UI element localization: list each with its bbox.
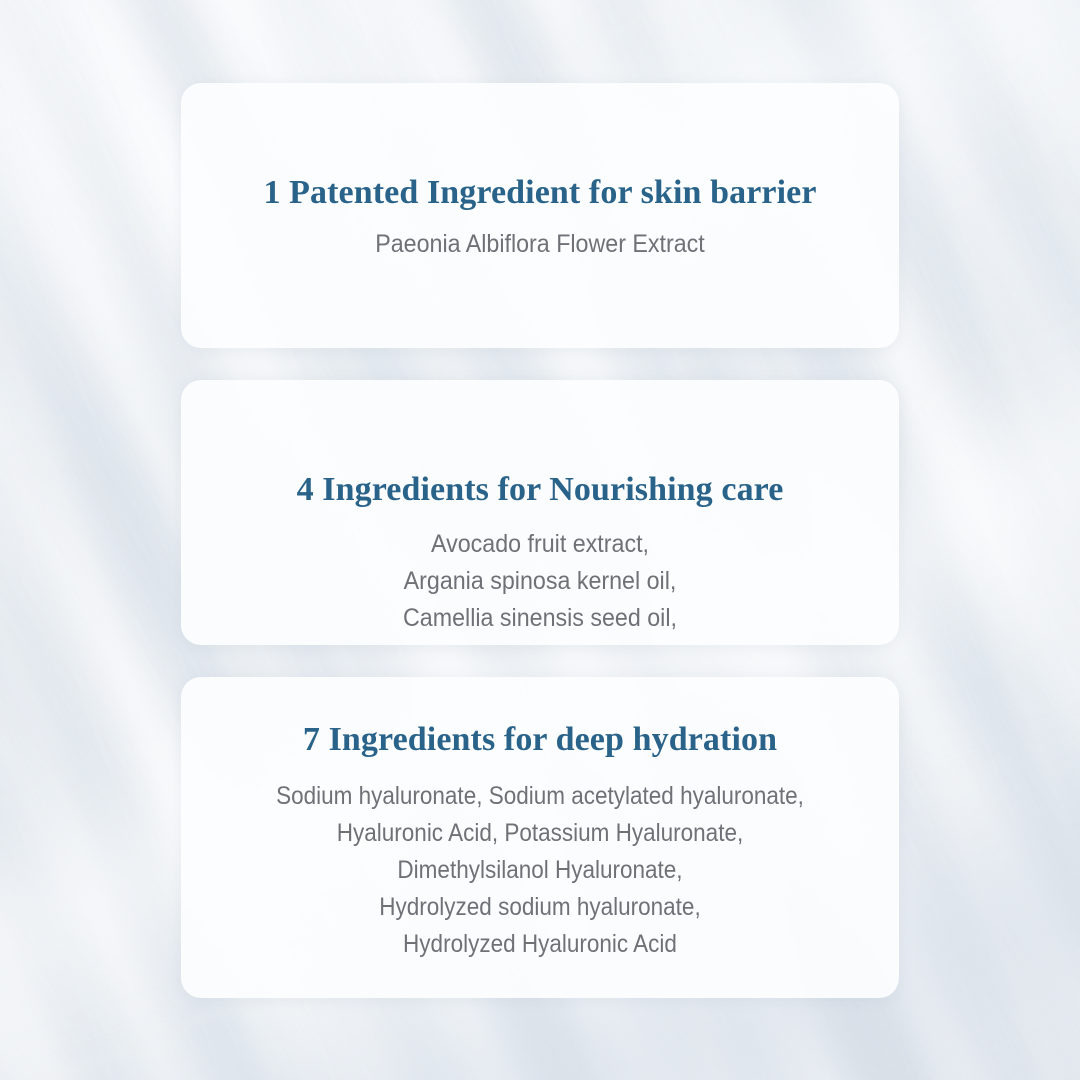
ingredient-line: Hyaluronic Acid, Potassium Hyaluronate, xyxy=(217,815,863,852)
card-heading: 1 Patented Ingredient for skin barrier xyxy=(181,171,899,215)
ingredient-line: Argania spinosa kernel oil, xyxy=(206,563,874,600)
card-body: Sodium hyaluronate, Sodium acetylated hy… xyxy=(217,762,863,963)
ingredient-line: Tocopherol xyxy=(206,637,874,645)
card-body: Paeonia Albiflora Flower Extract xyxy=(206,215,874,263)
ingredient-line: Sodium hyaluronate, Sodium acetylated hy… xyxy=(217,778,863,815)
ingredient-line: Dimethylsilanol Hyaluronate, xyxy=(217,852,863,889)
ingredient-card-deep-hydration: 7 Ingredients for deep hydration Sodium … xyxy=(181,677,899,998)
ingredient-line: Hydrolyzed Hyaluronic Acid xyxy=(217,926,863,963)
card-heading: 7 Ingredients for deep hydration xyxy=(181,718,899,762)
card-heading: 4 Ingredients for Nourishing care xyxy=(181,468,899,512)
ingredient-card-list: 1 Patented Ingredient for skin barrier P… xyxy=(181,83,899,998)
ingredient-card-patented-ingredient: 1 Patented Ingredient for skin barrier P… xyxy=(181,83,899,348)
ingredient-line: Paeonia Albiflora Flower Extract xyxy=(206,226,874,263)
ingredient-line: Camellia sinensis seed oil, xyxy=(206,600,874,637)
ingredient-line: Avocado fruit extract, xyxy=(206,526,874,563)
ingredient-line: Hydrolyzed sodium hyaluronate, xyxy=(217,889,863,926)
card-body: Avocado fruit extract, Argania spinosa k… xyxy=(206,512,874,645)
infographic-stage: 1 Patented Ingredient for skin barrier P… xyxy=(0,0,1080,1080)
ingredient-card-nourishing-care: 4 Ingredients for Nourishing care Avocad… xyxy=(181,380,899,645)
